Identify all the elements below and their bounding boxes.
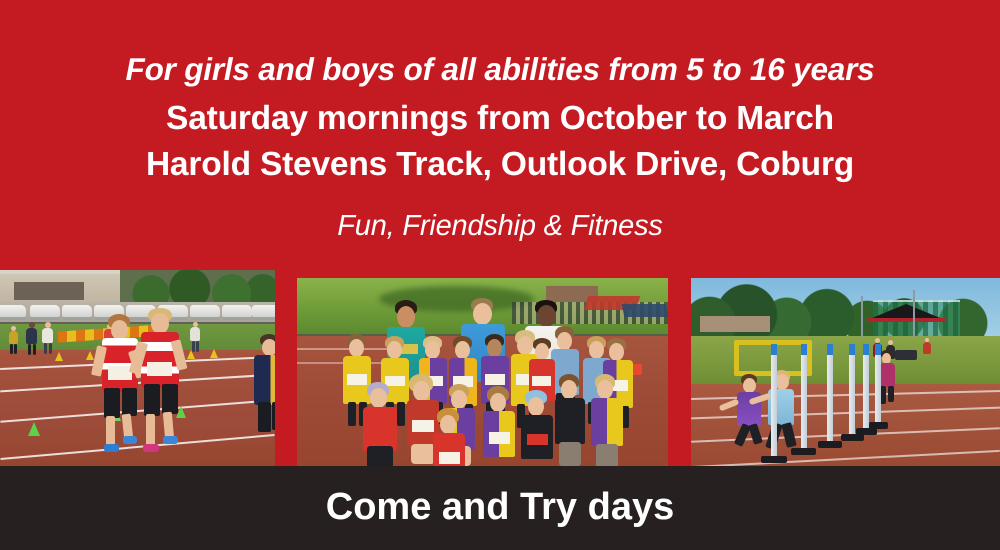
poster: For girls and boys of all abilities from…: [0, 0, 1000, 550]
cone: [55, 352, 63, 361]
marquee-valance: [867, 318, 945, 322]
cone: [86, 351, 94, 360]
clubhouse: [700, 316, 770, 332]
headline-line-1: For girls and boys of all abilities from…: [0, 52, 1000, 86]
tree-line: [120, 270, 275, 304]
photo-relay-runners: [0, 270, 275, 466]
headline-block: For girls and boys of all abilities from…: [0, 0, 1000, 270]
cone: [210, 349, 218, 358]
photo-hurdles: [691, 278, 1000, 466]
headline-line-2: Saturday mornings from October to March: [0, 101, 1000, 137]
tagline: Fun, Friendship & Fitness: [0, 210, 1000, 242]
footer-bar: Come and Try days: [0, 466, 1000, 550]
cone: [187, 350, 195, 359]
cone: [28, 422, 40, 436]
photo-group: [297, 278, 668, 466]
marquee: [622, 304, 668, 317]
building-shade: [14, 282, 84, 300]
footer-headline: Come and Try days: [0, 486, 1000, 528]
headline-line-3: Harold Stevens Track, Outlook Drive, Cob…: [0, 147, 1000, 183]
